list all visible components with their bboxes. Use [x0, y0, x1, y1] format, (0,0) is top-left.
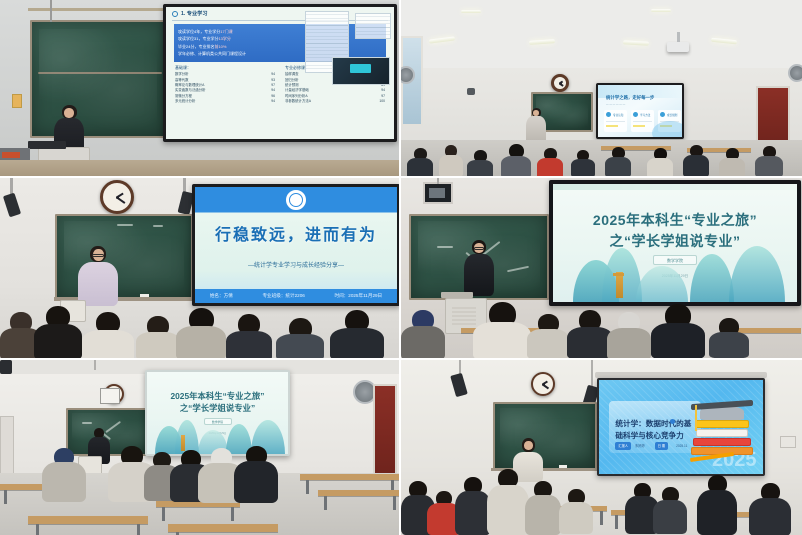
floor	[0, 160, 401, 176]
audience-row	[0, 302, 401, 358]
student-row	[401, 142, 802, 176]
slide-title-line-1: 2025年本科生“专业之旅”	[147, 390, 288, 402]
collage-panel-top-left: 1. 专业学习 攻读学位4年，专业学分17门课 攻读学位31，专业学分13学分 …	[0, 0, 401, 176]
card-label: 学习方法	[640, 113, 650, 117]
security-camera	[467, 88, 475, 95]
red-label	[2, 152, 20, 158]
footer-field: 专业班级：统计2206	[262, 293, 304, 299]
slide-title-line-2: 础科学与核心竞争力	[615, 430, 683, 441]
slide-title-line-2: 之“学长学姐说专业”	[147, 402, 288, 414]
monitor-bracket	[437, 176, 439, 184]
slide-tag-presenter: 汇报人	[615, 442, 631, 450]
presentation-display: 2025年本科生“专业之旅” 之“学长学姐说专业” 数学学院 2025年11月2…	[549, 180, 801, 306]
slide-subtitle: —统计学专业学习与成长经验分享—	[195, 260, 397, 269]
collage-panel-bottom-right: 统计学：数据时代的基 础科学与核心竞争力 汇报人 朱婷婷 日 期 2025.11…	[401, 358, 802, 535]
card-label: 成长规划	[667, 113, 677, 117]
slide-tag-date: 日 期	[655, 442, 668, 450]
student-desk	[168, 524, 278, 532]
slide-title-line-1: 2025年本科生“专业之旅”	[553, 210, 797, 230]
collage-panel-top-right: 统计学之路，走好每一步 — — — — — — 专业认知 学习方法 成长规划	[401, 0, 802, 176]
photo-collage: 1. 专业学习 攻读学位4年，专业学分17门课 攻读学位31，专业学分13学分 …	[0, 0, 802, 535]
laptop	[28, 141, 66, 149]
presentation-display: 行稳致远，进而有为 —统计学专业学习与成长经验分享— 姓名：方倩 专业班级：统计…	[192, 184, 400, 306]
hanger-cable	[50, 0, 52, 22]
slide-chip: 数学学院	[204, 418, 232, 425]
student-desk	[28, 516, 148, 524]
slide-professional-study: 1. 专业学习 攻读学位4年，专业学分17门课 攻读学位31，专业学分13学分 …	[166, 7, 394, 139]
slide-main-title: 行稳致远，进而有为	[195, 221, 397, 245]
projection-screen: 2025年本科生“专业之旅” 之“学长学姐说专业” 数学学院 2025年11月2…	[145, 370, 290, 456]
card-label: 专业认知	[613, 113, 623, 117]
wall-clock	[531, 372, 555, 396]
slide-card: 学习方法	[631, 110, 654, 132]
dot-icon	[670, 419, 675, 424]
course-column-basic: 基础课： 数学分析94 高等代数93 概率论与数理统计A97 实变函数与泛函分析…	[175, 65, 275, 104]
hanger-cable	[591, 360, 593, 386]
column-header: 基础课：	[175, 65, 275, 71]
hanger-cable	[10, 178, 13, 194]
slide-footer-bar: 姓名：方倩 专业班级：统计2206 时间：2025年11月29日	[195, 289, 397, 303]
footer-field: 时间：2025年11月29日	[334, 293, 382, 299]
audience-row	[401, 463, 802, 535]
collage-panel-bottom-left: 2025年本科生“专业之旅” 之“学长学姐说专业” 数学学院 2025年11月2…	[0, 358, 401, 535]
projector	[667, 42, 689, 52]
slide-heading: 统计学之路，走好每一步	[606, 95, 654, 101]
bullet-highlight: 17门课	[220, 29, 232, 34]
course-row: 多元统计分析94	[175, 99, 275, 104]
eyeglasses-icon	[92, 254, 104, 257]
eyeglasses-icon	[474, 247, 484, 250]
footer-field: 姓名：方倩	[210, 293, 233, 299]
wall-clock	[100, 180, 134, 214]
slide-title-line-1: 统计学：数据时代的基	[615, 418, 691, 429]
chalkboard	[55, 214, 193, 300]
wall-box	[780, 436, 796, 448]
circle-icon	[633, 112, 638, 117]
slide-mountain-title: 2025年本科生“专业之旅” 之“学长学姐说专业” 数学学院 2025年11月2…	[553, 184, 797, 302]
collage-panel-middle-left: 行稳致远，进而有为 —统计学专业学习与成长经验分享— 姓名：方倩 专业班级：统计…	[0, 176, 401, 358]
ceiling-light	[651, 9, 671, 12]
hanger-cable	[183, 178, 186, 192]
score-table-image	[355, 13, 391, 39]
slide-card: 专业认知	[604, 110, 627, 132]
slide-side-graphics	[305, 11, 391, 83]
wall-picture	[100, 388, 120, 404]
chalk-piece	[140, 294, 149, 297]
course-row: 非参数统计方法A100	[285, 99, 385, 104]
wall-switch	[12, 94, 22, 108]
presentation-display: 统计学之路，走好每一步 — — — — — — 专业认知 学习方法 成长规划	[596, 83, 684, 139]
presentation-display: 1. 专业学习 攻读学位4年，专业学分17门课 攻读学位31，专业学分13学分 …	[163, 4, 397, 142]
slide-mountain-title: 2025年本科生“专业之旅” 之“学长学姐说专业” 数学学院 2025年11月2…	[147, 372, 288, 454]
wall-fan	[788, 64, 802, 82]
laptop	[441, 292, 473, 298]
chalkboard	[30, 20, 166, 138]
graduation-tassel	[695, 405, 697, 431]
presenter	[78, 246, 118, 306]
projection-screen: 统计学：数据时代的基 础科学与核心竞争力 汇报人 朱婷婷 日 期 2025.11…	[597, 378, 765, 476]
hanger-cable	[94, 360, 96, 370]
bullet-highlight: 13学分	[218, 36, 230, 41]
slide-statistics-blue: 统计学：数据时代的基 础科学与核心竞争力 汇报人 朱婷婷 日 期 2025.11…	[599, 380, 763, 474]
wall-clock	[551, 74, 569, 92]
books-illustration	[691, 397, 753, 457]
circle-icon	[606, 112, 611, 117]
circle-icon	[660, 112, 665, 117]
ceiling-light	[461, 10, 481, 13]
hanger-cable	[459, 360, 461, 374]
audience-row	[401, 300, 802, 358]
collage-panel-middle-right: 2025年本科生“专业之旅” 之“学长学姐说专业” 数学学院 2025年11月2…	[401, 176, 802, 358]
audience-row	[0, 446, 401, 506]
slide-chip: 数学学院	[653, 255, 697, 265]
hanging-speaker	[0, 360, 12, 374]
classroom-photo-thumbnail	[332, 57, 390, 85]
slide-title-blue: 行稳致远，进而有为 —统计学专业学习与成长经验分享— 姓名：方倩 专业班级：统计…	[195, 187, 397, 303]
slide-tag-presenter-value: 朱婷婷	[635, 442, 645, 450]
slide-three-cards: 统计学之路，走好每一步 — — — — — — 专业认知 学习方法 成长规划	[598, 85, 682, 137]
wall-monitor	[423, 182, 453, 204]
bullet-highlight: 前10%	[214, 44, 226, 49]
slide-heading: 1. 专业学习	[181, 10, 208, 17]
slide-tag-date-value: 2025.11	[676, 442, 687, 450]
chalkboard	[493, 402, 597, 470]
presenter	[463, 240, 495, 298]
lightbulb-icon	[172, 11, 178, 17]
university-emblem	[285, 189, 307, 211]
